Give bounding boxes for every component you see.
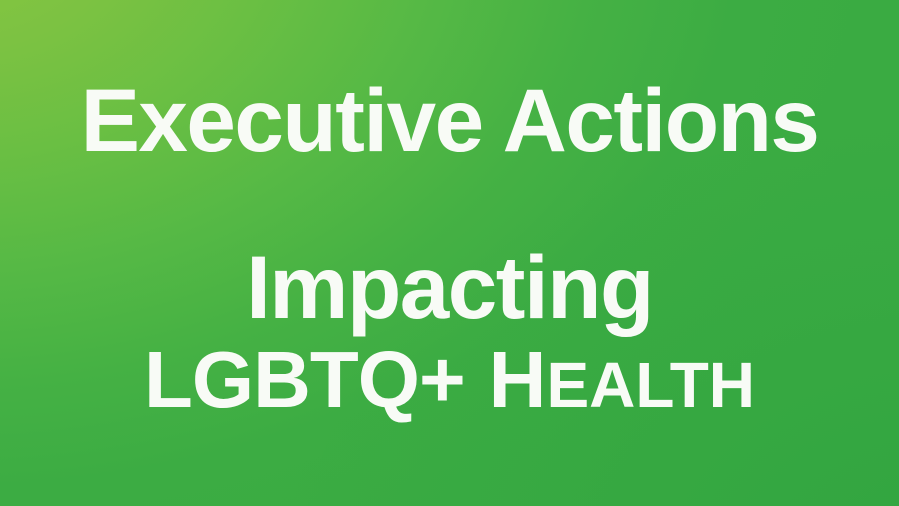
- health-initial-cap: H: [489, 335, 547, 424]
- headline-line-impacting: Impacting: [0, 243, 899, 332]
- headline-stack: Executive Actions Impacting LGBTQ+Health: [0, 0, 899, 420]
- headline-line-lgbtq-health: LGBTQ+Health: [0, 340, 899, 420]
- headline-lgbtq-text: LGBTQ+: [144, 335, 465, 424]
- health-smallcaps-rest: ealth: [546, 349, 755, 421]
- headline-health-text: Health: [489, 335, 755, 424]
- headline-line-executive-actions: Executive Actions: [0, 76, 899, 165]
- title-slide: Executive Actions Impacting LGBTQ+Health: [0, 0, 899, 506]
